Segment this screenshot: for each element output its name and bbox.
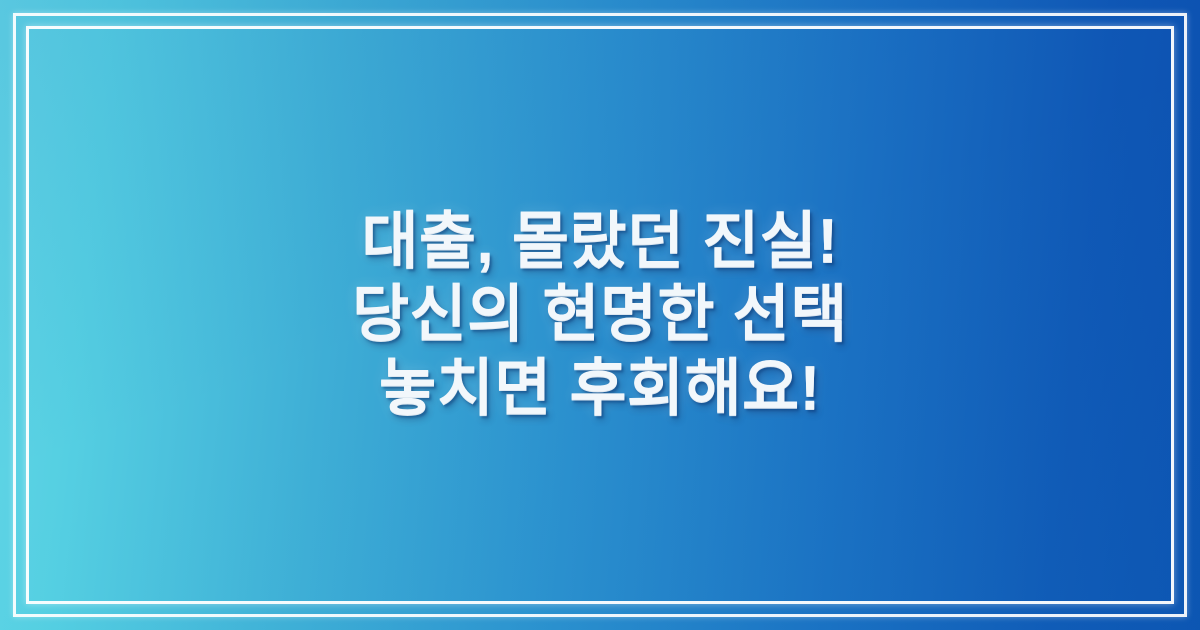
- headline-line-3: 놓치면 후회해요!: [352, 352, 848, 425]
- page-title: 대출, 몰랐던 진실! 당신의 현명한 선택 놓치면 후회해요!: [352, 205, 848, 424]
- headline-container: 대출, 몰랐던 진실! 당신의 현명한 선택 놓치면 후회해요!: [0, 0, 1200, 630]
- headline-line-1: 대출, 몰랐던 진실!: [352, 205, 848, 278]
- promo-banner: 대출, 몰랐던 진실! 당신의 현명한 선택 놓치면 후회해요!: [0, 0, 1200, 630]
- headline-line-2: 당신의 현명한 선택: [352, 278, 848, 351]
